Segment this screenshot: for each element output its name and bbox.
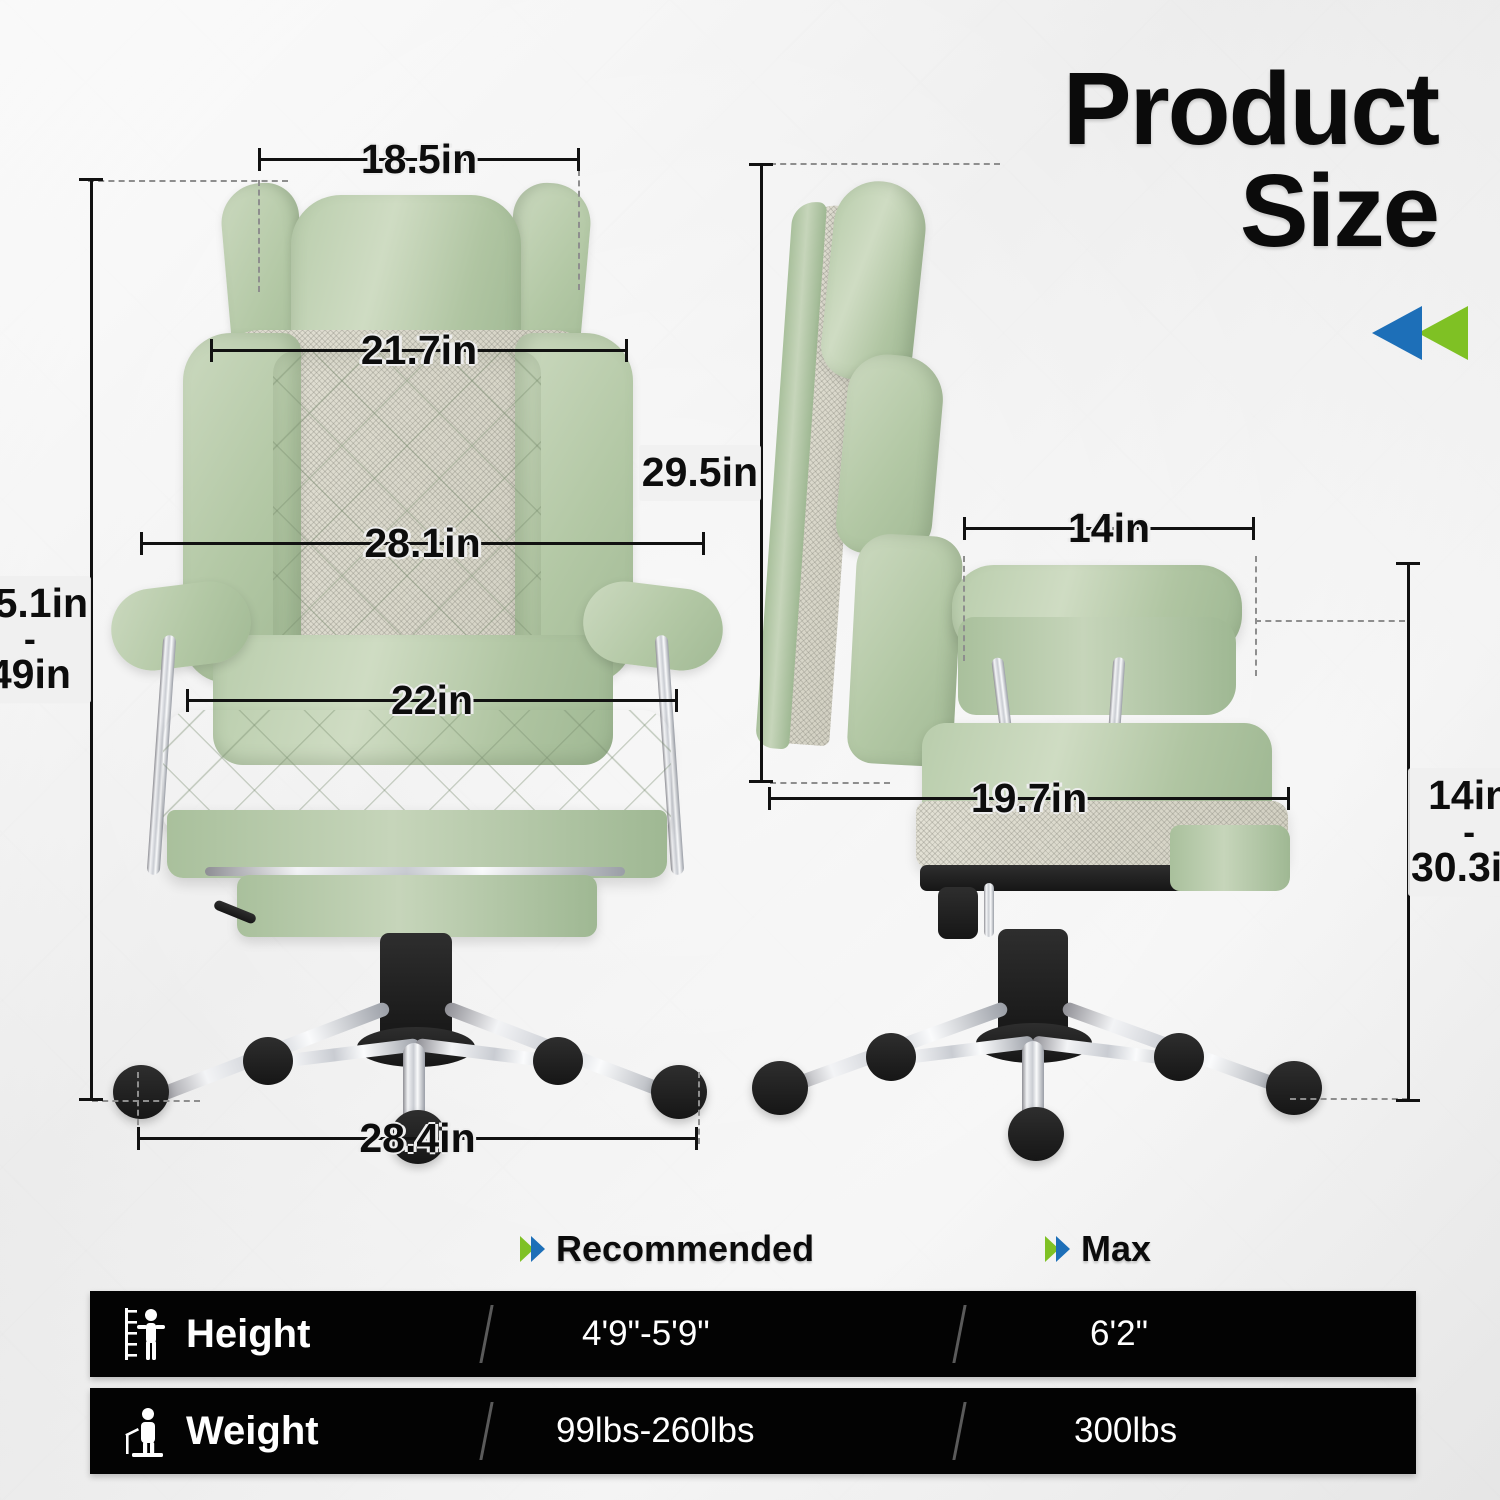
side-tilt-knob [938, 887, 978, 939]
dim-cap-right [1252, 517, 1255, 540]
dim-label: 28.4in [350, 1112, 484, 1164]
dim-cap-left [137, 1127, 140, 1150]
spec-row-height-max: 6'2" [1090, 1314, 1148, 1354]
dim-label: 18.5in [352, 133, 486, 185]
dim-armrest-depth: 14in [963, 515, 1255, 541]
side-caster-5 [1266, 1061, 1322, 1115]
spec-table: Recommended Max [90, 1228, 1416, 1474]
dim-cap-left [140, 532, 143, 555]
header-recommended-label: Recommended [556, 1228, 814, 1270]
spec-divider-2 [952, 1305, 966, 1363]
side-caster-3 [1008, 1107, 1064, 1161]
spec-row-weight-label: Weight [186, 1409, 319, 1454]
chair-front-view [95, 165, 735, 1110]
dim-label: 29.5in [639, 445, 761, 501]
dim-label-bottom: 30.3in [1411, 844, 1500, 890]
front-caster-2 [243, 1037, 293, 1085]
side-upper-back-cushion [833, 351, 946, 559]
dim-label: 14in - 30.3in [1408, 768, 1500, 896]
page-title-line1: Product [1063, 51, 1438, 166]
spec-row-height-label: Height [186, 1312, 310, 1357]
front-caster-1 [113, 1065, 169, 1119]
side-footrest [1170, 825, 1290, 891]
dim-cap-bottom [1396, 1099, 1420, 1102]
dim-base-width: 28.4in [137, 1125, 698, 1151]
spec-row-weight-max: 300lbs [1074, 1411, 1177, 1451]
arrow-green-triangle [1418, 306, 1468, 360]
dim-label-dash: - [0, 627, 88, 653]
dim-cap-right [695, 1127, 698, 1150]
side-tension-spring [984, 883, 994, 937]
dim-cap-left [963, 517, 966, 540]
dim-cap-top [749, 163, 773, 166]
dim-seat-width: 22in [186, 687, 678, 713]
dim-cap-right [577, 148, 580, 171]
header-max: Max [1045, 1228, 1151, 1270]
dim-cap-right [625, 339, 628, 362]
arrow-blue-triangle [1056, 1236, 1070, 1262]
dim-label-dash: - [1411, 819, 1500, 845]
leader-headrest-left [258, 180, 260, 292]
dim-cap-top [1396, 562, 1420, 565]
double-right-arrow-icon [520, 1236, 545, 1262]
arrow-blue-triangle [1372, 306, 1422, 360]
header-recommended: Recommended [520, 1228, 814, 1270]
leader-armrest-rear [1255, 556, 1257, 676]
dim-label: 14in [1059, 502, 1159, 554]
height-person-ruler-icon [124, 1306, 166, 1362]
dim-seat-height: 14in - 30.3in [1395, 562, 1421, 1102]
spec-table-header: Recommended Max [90, 1228, 1416, 1280]
spec-row-weight-recommended: 99lbs-260lbs [556, 1411, 754, 1451]
leader-base-right [698, 1072, 700, 1144]
leader-armrest-front [963, 556, 965, 661]
leader-seatheight-bot [1290, 1098, 1408, 1100]
dim-back-height: 29.5in [748, 163, 774, 783]
dim-headrest-width: 18.5in [258, 146, 580, 172]
side-caster-2 [866, 1033, 916, 1081]
leader-seatheight-top [1255, 620, 1405, 622]
dim-label: 28.1in [355, 517, 489, 569]
dim-label-top: 45.1in [0, 580, 88, 626]
dim-cap-bottom [749, 780, 773, 783]
dim-cap-left [210, 339, 213, 362]
dim-cap-left [768, 787, 771, 810]
dim-label-bottom: 49in [0, 651, 71, 697]
front-caster-4 [533, 1037, 583, 1085]
leader-side-bottom [770, 782, 890, 784]
dim-cap-right [702, 532, 705, 555]
dim-overall-height: 45.1in - 49in [78, 178, 104, 1101]
spec-row-height: Height 4'9"-5'9" 6'2" [90, 1291, 1416, 1377]
spec-divider-4 [952, 1402, 966, 1460]
leader-bottom-left [92, 1100, 200, 1102]
dim-shoulder-width: 28.1in [140, 530, 705, 556]
front-footrest [237, 875, 597, 937]
double-right-arrow-icon [1045, 1236, 1070, 1262]
leader-side-top [770, 163, 1000, 165]
double-left-arrow-icon [1372, 306, 1480, 360]
dim-cap-right [675, 689, 678, 712]
header-max-label: Max [1081, 1228, 1151, 1270]
dim-backrest-width: 21.7in [210, 337, 628, 363]
weight-person-scale-icon [124, 1403, 166, 1459]
dim-cap-left [258, 148, 261, 171]
chair-side-view [770, 165, 1330, 1110]
dim-cap-right [1287, 787, 1290, 810]
spec-divider-3 [479, 1402, 493, 1460]
spec-row-height-recommended: 4'9"-5'9" [582, 1314, 710, 1354]
dim-seat-depth: 19.7in [768, 785, 1290, 811]
side-caster-4 [1154, 1033, 1204, 1081]
dim-label: 21.7in [352, 324, 486, 376]
spec-row-weight-label-group: Weight [124, 1403, 319, 1459]
dim-label: 45.1in - 49in [0, 576, 91, 704]
dim-label: 22in [382, 674, 482, 726]
arrow-blue-triangle [531, 1236, 545, 1262]
spec-row-weight: Weight 99lbs-260lbs 300lbs [90, 1388, 1416, 1474]
dim-cap-top [79, 178, 103, 181]
dim-cap-bottom [79, 1098, 103, 1101]
spec-divider-1 [479, 1305, 493, 1363]
spec-row-height-label-group: Height [124, 1306, 310, 1362]
side-caster-1 [752, 1061, 808, 1115]
dim-cap-left [186, 689, 189, 712]
leader-headrest-right [578, 170, 580, 290]
dim-label: 19.7in [962, 772, 1096, 824]
